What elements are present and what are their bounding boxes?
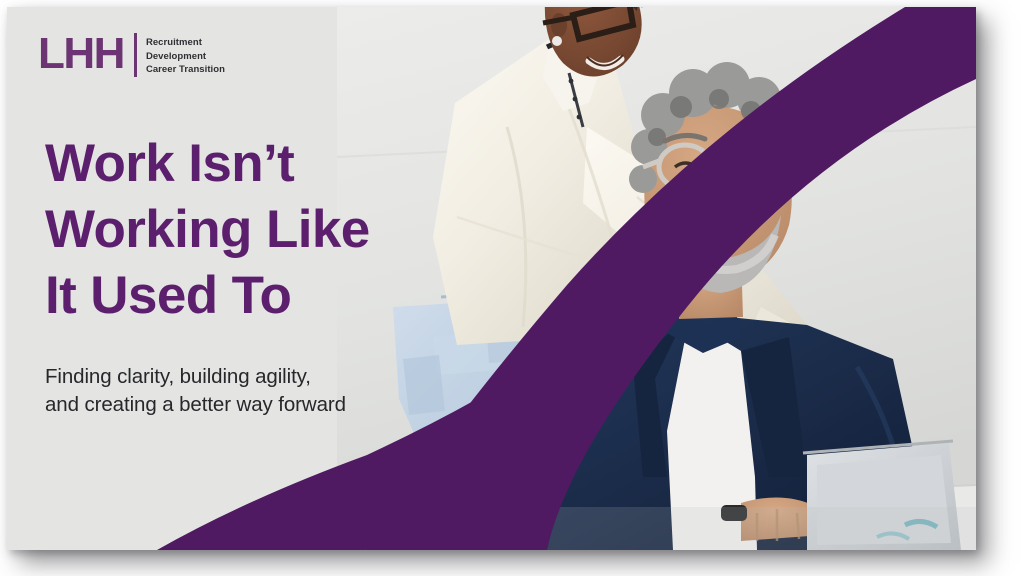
title-text-column: LHH Recruitment Development Career Trans… [7,7,407,550]
logo-divider [134,33,137,77]
slide-subhead: Finding clarity, building agility, and c… [45,363,425,419]
subhead-line-1: Finding clarity, building agility, [45,363,425,391]
lhh-logo[interactable]: LHH Recruitment Development Career Trans… [38,31,225,79]
headline-line-1: Work Isn’t [45,131,445,197]
slide-headline: Work Isn’t Working Like It Used To [45,131,445,329]
headline-line-3: It Used To [45,263,445,329]
subhead-line-2: and creating a better way forward [45,391,425,419]
logo-wordmark: LHH [38,31,124,79]
headline-line-2: Working Like [45,197,445,263]
logo-tagline-line-1: Recruitment [146,36,225,50]
presentation-slide: LHH Recruitment Development Career Trans… [7,7,976,550]
logo-tagline-line-2: Development [146,50,225,64]
logo-tagline-line-3: Career Transition [146,63,225,77]
logo-tagline: Recruitment Development Career Transitio… [146,31,225,79]
screenshot-stage: LHH Recruitment Development Career Trans… [0,0,1024,576]
